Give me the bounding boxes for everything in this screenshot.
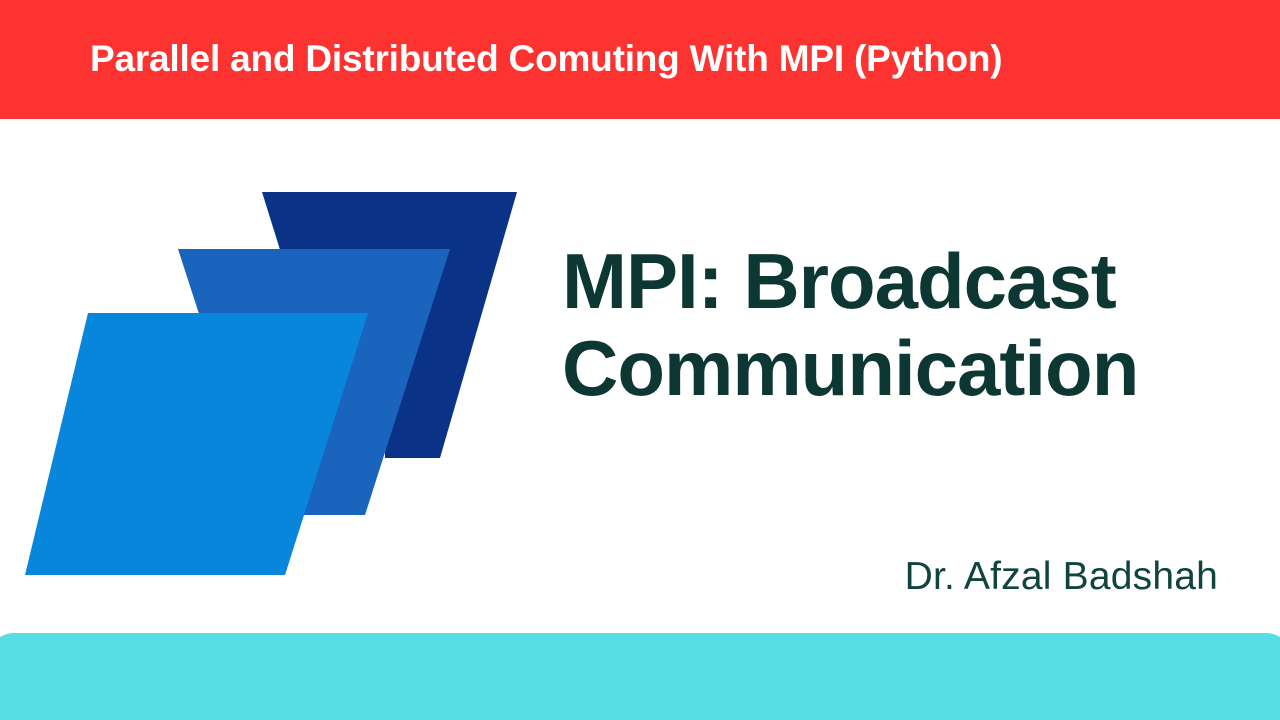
slide: Parallel and Distributed Comuting With M… [0,0,1280,720]
course-title: Parallel and Distributed Comuting With M… [0,39,1042,80]
page-title-line-2: Communication [562,324,1138,412]
header-bar: Parallel and Distributed Comuting With M… [0,0,1280,119]
title-block: MPI: BroadcastCommunication [562,238,1222,413]
parallelogram-front-layer [25,313,368,575]
stacked-parallelograms-graphic [0,160,560,600]
footer-bar [0,633,1280,720]
author-name: Dr. Afzal Badshah [905,555,1218,599]
page-title-line-1: MPI: Broadcast [562,237,1116,325]
page-title: MPI: BroadcastCommunication [562,238,1222,413]
